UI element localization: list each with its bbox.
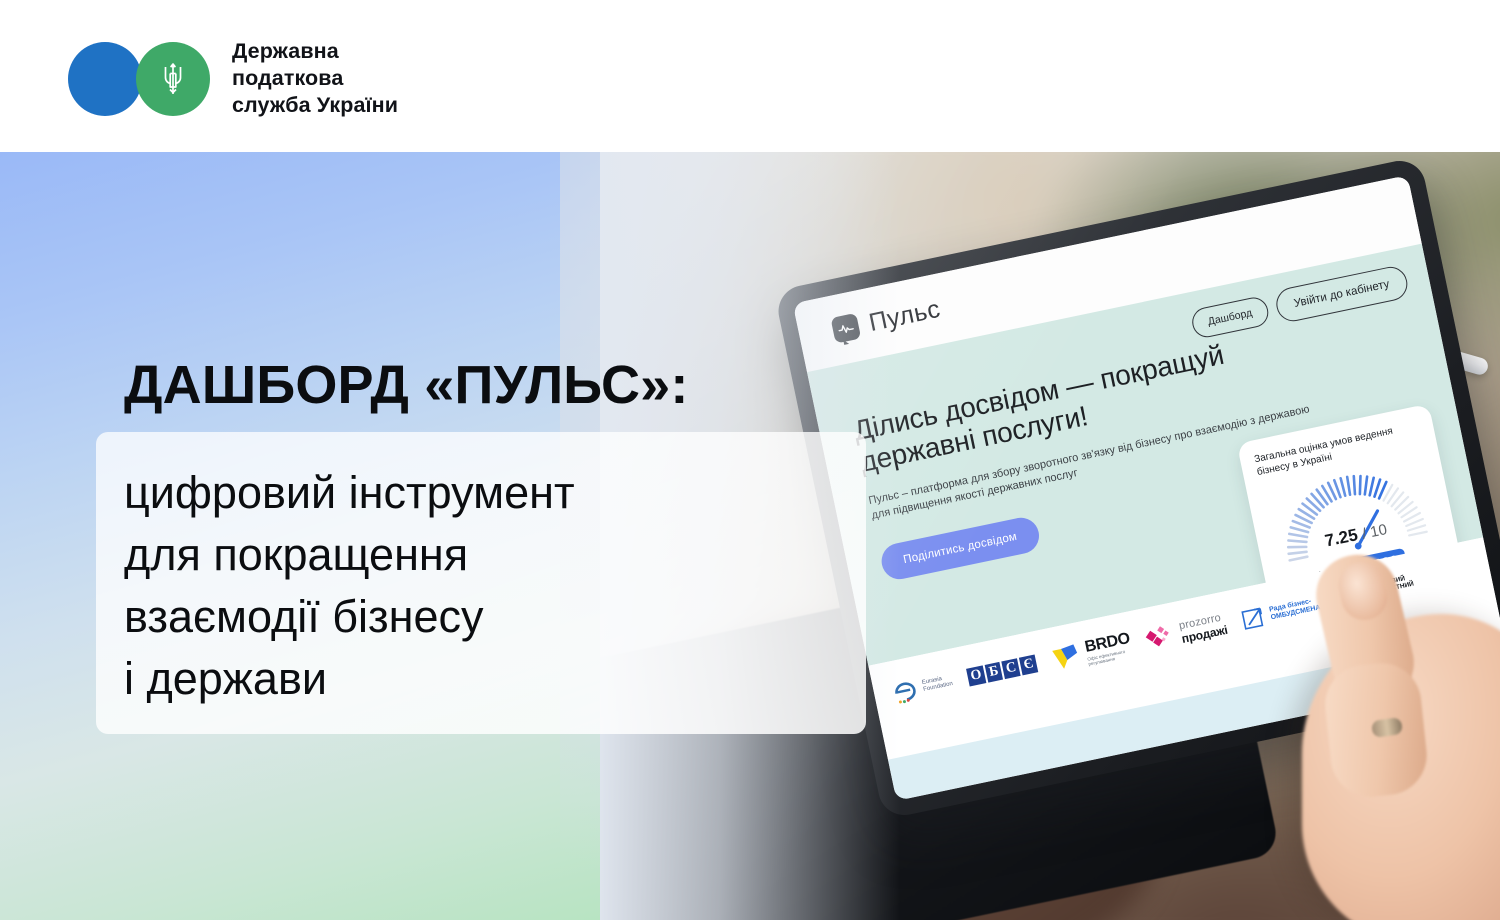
partner-brdo[interactable]: BRDO Офіс ефективного регулювання (1049, 630, 1134, 674)
poster-canvas: Державна податкова служба України Пульс (0, 0, 1500, 920)
osce-letter-3: С (1001, 658, 1020, 679)
brdo-icon (1049, 641, 1084, 673)
page-title: ДАШБОРД «ПУЛЬС»: (124, 355, 689, 415)
partner-prozorro-prodazhi[interactable]: prozorro продажі (1144, 611, 1229, 653)
share-experience-button[interactable]: Поділитись досвідом (878, 515, 1042, 583)
osce-letter-4: Є (1019, 655, 1038, 676)
score-denominator: / 10 (1361, 521, 1389, 543)
hand-holding-tablet (1236, 544, 1500, 920)
osce-letter-2: Б (985, 662, 1004, 683)
green-circle-emblem (136, 42, 210, 116)
organization-name: Державна податкова служба України (232, 38, 398, 119)
blue-circle-icon (68, 42, 142, 116)
eurasia-foundation-caption: Eurasia Foundation (921, 674, 953, 694)
osce-letter-1: О (966, 665, 986, 686)
trident-icon (157, 59, 189, 99)
pulse-line-icon (837, 321, 855, 336)
pulse-chat-icon (830, 313, 861, 344)
partner-eurasia-foundation[interactable]: Eurasia Foundation (890, 668, 955, 706)
organization-logo: Державна податкова служба України (68, 38, 398, 119)
nav-login-button[interactable]: Увійти до кабінету (1273, 264, 1410, 325)
prozorro-icon (1144, 622, 1179, 654)
site-header: Державна податкова служба України (0, 0, 1500, 152)
partner-osce[interactable]: О Б С Є (966, 655, 1038, 687)
app-brand-name: Пульс (866, 294, 942, 337)
eurasia-foundation-icon (890, 675, 921, 706)
page-subtitle: цифровий інструмент для покращення взаєм… (124, 462, 575, 710)
